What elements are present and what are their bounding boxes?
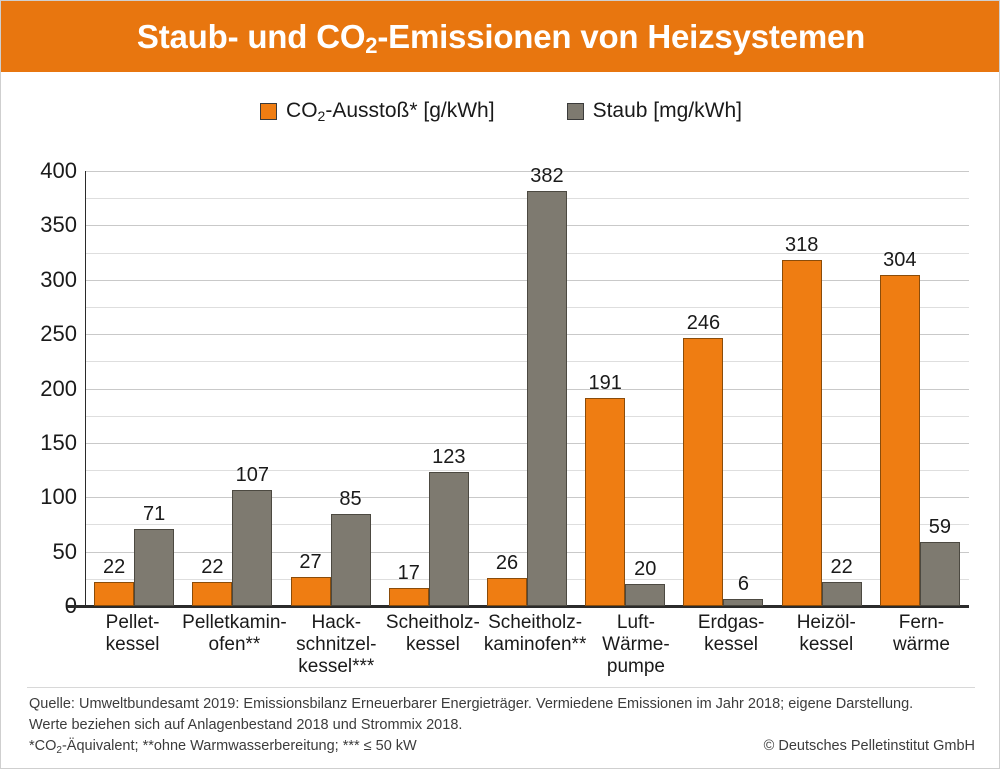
x-axis-label-line: kaminofen** xyxy=(484,634,586,656)
bar-value-label: 246 xyxy=(687,312,720,335)
bar-value-label: 85 xyxy=(339,488,361,511)
footer-note-line: Werte beziehen sich auf Anlagenbestand 2… xyxy=(29,715,975,736)
bar-value-label: 382 xyxy=(530,165,563,188)
x-axis-label-line: kessel xyxy=(87,634,178,656)
x-axis-label: Pellet-kessel xyxy=(85,612,180,678)
x-axis-label: Luft-Wärme-pumpe xyxy=(588,612,683,678)
chart-page: Staub- und CO2-Emissionen von Heizsystem… xyxy=(0,0,1000,769)
x-axis-label-line: Pelletkamin- xyxy=(182,612,287,634)
footer-asterisk-post: -Äquivalent; **ohne Warmwasserbereitung;… xyxy=(62,738,417,754)
y-tick-label: 300 xyxy=(40,267,77,293)
y-tick-label: 350 xyxy=(40,212,77,238)
y-tick-label: 250 xyxy=(40,321,77,347)
bar-group: 22107 xyxy=(183,171,281,606)
footer-bottom-row: *CO2-Äquivalent; **ohne Warmwasserbereit… xyxy=(29,736,975,758)
x-axis-label-line: Pellet- xyxy=(87,612,178,634)
bar-value-label: 6 xyxy=(738,573,749,596)
bar-co2[interactable]: 246 xyxy=(683,338,723,606)
bar-staub[interactable]: 71 xyxy=(134,529,174,606)
footer-asterisk-pre: *CO xyxy=(29,738,56,754)
bar-staub[interactable]: 382 xyxy=(527,191,567,606)
bar-staub[interactable]: 6 xyxy=(723,599,763,606)
x-axis-label-line: Wärme- xyxy=(590,634,681,656)
bar-value-label: 71 xyxy=(143,503,165,526)
x-axis-label: Pelletkamin-ofen** xyxy=(180,612,289,678)
y-tick-label: 400 xyxy=(40,158,77,184)
x-axis-labels: Pellet-kesselPelletkamin-ofen**Hack-schn… xyxy=(85,612,969,678)
x-axis-label-line: Fern- xyxy=(876,612,967,634)
bar-co2[interactable]: 318 xyxy=(782,260,822,606)
bar-co2[interactable]: 17 xyxy=(389,588,429,606)
footer-divider xyxy=(27,687,975,688)
x-axis-label-line: Erdgas- xyxy=(686,612,777,634)
bar-value-label: 191 xyxy=(589,372,622,395)
bar-co2[interactable]: 27 xyxy=(291,577,331,606)
x-axis-label-line: Scheitholz- xyxy=(484,612,586,634)
footer-notes: Quelle: Umweltbundesamt 2019: Emissionsb… xyxy=(29,694,975,758)
bar-value-label: 17 xyxy=(398,562,420,585)
bar-staub[interactable]: 20 xyxy=(625,584,665,606)
bar-value-label: 22 xyxy=(831,556,853,579)
y-tick-label: 200 xyxy=(40,376,77,402)
y-axis: 050100150200250300350400 xyxy=(19,1,77,691)
x-axis-label-line: ofen** xyxy=(182,634,287,656)
bar-staub[interactable]: 107 xyxy=(232,490,272,606)
bar-group: 17123 xyxy=(380,171,478,606)
x-axis-label-line: schnitzel- xyxy=(291,634,382,656)
bar-group: 2466 xyxy=(674,171,772,606)
copyright-text: © Deutsches Pelletinstitut GmbH xyxy=(764,736,975,757)
footer-asterisk-line: *CO2-Äquivalent; **ohne Warmwasserbereit… xyxy=(29,736,417,758)
plot-wrap: 050100150200250300350400 227122107278517… xyxy=(1,1,1000,691)
bar-value-label: 27 xyxy=(299,551,321,574)
bar-value-label: 26 xyxy=(496,552,518,575)
bar-co2[interactable]: 304 xyxy=(880,275,920,606)
bar-group: 2271 xyxy=(85,171,183,606)
bar-co2[interactable]: 22 xyxy=(192,582,232,606)
bar-value-label: 107 xyxy=(236,464,269,487)
bar-value-label: 22 xyxy=(103,556,125,579)
bar-staub[interactable]: 59 xyxy=(920,542,960,606)
bar-co2[interactable]: 26 xyxy=(487,578,527,606)
x-axis-label: Erdgas-kessel xyxy=(684,612,779,678)
y-tick-label: 100 xyxy=(40,484,77,510)
bar-staub[interactable]: 123 xyxy=(429,472,469,606)
x-axis-label-line: kessel xyxy=(686,634,777,656)
bar-group: 30459 xyxy=(871,171,969,606)
bar-group: 26382 xyxy=(478,171,576,606)
x-axis-label-line: wärme xyxy=(876,634,967,656)
bar-staub[interactable]: 85 xyxy=(331,514,371,606)
x-axis-label-line: Hack- xyxy=(291,612,382,634)
bar-value-label: 22 xyxy=(201,556,223,579)
bar-group: 31822 xyxy=(773,171,871,606)
bar-value-label: 318 xyxy=(785,234,818,257)
y-tick-label: 150 xyxy=(40,430,77,456)
x-axis-label-line: Heizöl- xyxy=(781,612,872,634)
footer-source-line: Quelle: Umweltbundesamt 2019: Emissionsb… xyxy=(29,694,975,715)
bar-group: 19120 xyxy=(576,171,674,606)
x-axis-label-line: kessel xyxy=(781,634,872,656)
x-axis-label: Scheitholz-kaminofen** xyxy=(482,612,588,678)
x-axis-label: Scheitholz-kessel xyxy=(384,612,482,678)
footer-asterisk-sub: 2 xyxy=(56,745,62,756)
bar-co2[interactable]: 22 xyxy=(94,582,134,606)
bar-value-label: 304 xyxy=(883,249,916,272)
bar-co2[interactable]: 191 xyxy=(585,398,625,606)
bar-value-label: 20 xyxy=(634,558,656,581)
x-axis-label-line: kessel xyxy=(386,634,480,656)
x-axis-label: Heizöl-kessel xyxy=(779,612,874,678)
bar-staub[interactable]: 22 xyxy=(822,582,862,606)
bar-groups: 2271221072785171232638219120246631822304… xyxy=(85,171,969,606)
x-axis-label-line: kessel*** xyxy=(291,656,382,678)
y-tick-label: 50 xyxy=(53,539,77,565)
x-axis-label-line: Scheitholz- xyxy=(386,612,480,634)
bar-value-label: 123 xyxy=(432,446,465,469)
x-axis-label: Hack-schnitzel-kessel*** xyxy=(289,612,384,678)
x-axis-label: Fern-wärme xyxy=(874,612,969,678)
bar-value-label: 59 xyxy=(929,516,951,539)
bar-group: 2785 xyxy=(281,171,379,606)
x-axis-label-line: Luft- xyxy=(590,612,681,634)
x-axis-label-line: pumpe xyxy=(590,656,681,678)
